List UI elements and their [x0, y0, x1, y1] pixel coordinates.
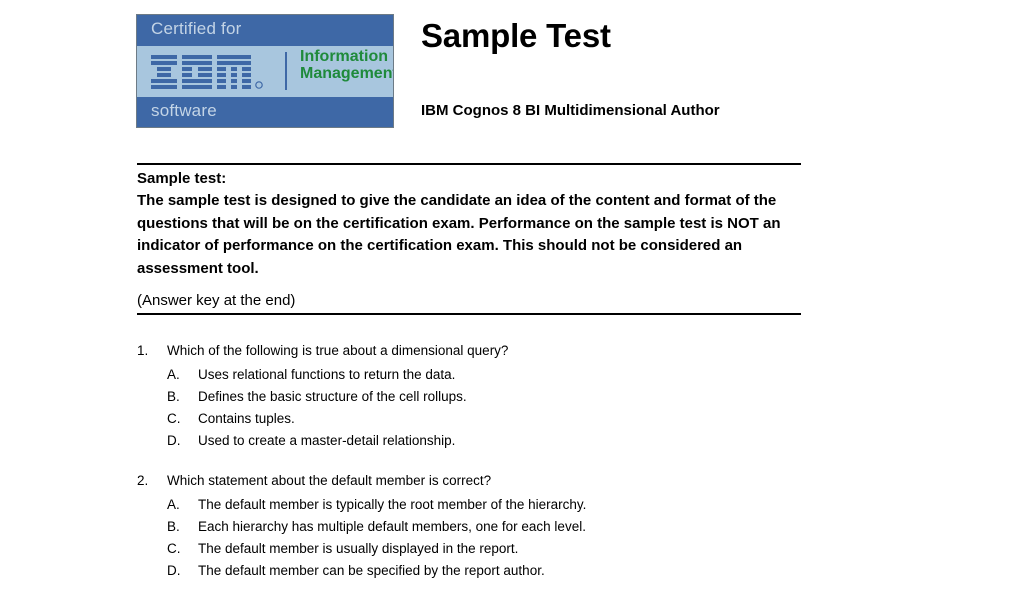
intro-body: The sample test is designed to give the …: [137, 190, 802, 280]
ibm-certification-logo: Certified for: [136, 14, 394, 128]
answer-option-letter: A.: [167, 494, 198, 516]
question-header: 1.Which of the following is true about a…: [137, 340, 897, 362]
answer-option[interactable]: A.Uses relational functions to return th…: [137, 364, 897, 386]
logo-certified-for-text: Certified for: [151, 19, 241, 39]
answer-options: A.The default member is typically the ro…: [137, 494, 897, 582]
answer-option[interactable]: D.Used to create a master-detail relatio…: [137, 430, 897, 452]
answer-option-letter: C.: [167, 408, 198, 430]
answer-options: A.Uses relational functions to return th…: [137, 364, 897, 452]
intro-section: Sample test: The sample test is designed…: [137, 168, 805, 280]
answer-option-text: The default member is usually displayed …: [198, 538, 897, 560]
answer-option-text: Used to create a master-detail relations…: [198, 430, 897, 452]
questions-list: 1.Which of the following is true about a…: [137, 340, 897, 600]
logo-product-line-2: Management: [300, 65, 394, 82]
answer-option[interactable]: A.The default member is typically the ro…: [137, 494, 897, 516]
answer-option[interactable]: B.Each hierarchy has multiple default me…: [137, 516, 897, 538]
ibm-wordmark-icon: [151, 55, 273, 89]
question-text: Which of the following is true about a d…: [167, 340, 897, 362]
question-header: 2.Which statement about the default memb…: [137, 470, 897, 492]
answer-option[interactable]: B.Defines the basic structure of the cel…: [137, 386, 897, 408]
answer-option-letter: C.: [167, 538, 198, 560]
logo-software-text: software: [151, 101, 217, 121]
question-item: 1.Which of the following is true about a…: [137, 340, 897, 452]
answer-option-letter: A.: [167, 364, 198, 386]
logo-product-line: Information Management: [300, 48, 394, 82]
answer-option-text: Uses relational functions to return the …: [198, 364, 897, 386]
answer-option[interactable]: C.The default member is usually displaye…: [137, 538, 897, 560]
page-subtitle: IBM Cognos 8 BI Multidimensional Author: [421, 102, 720, 119]
answer-option-text: Each hierarchy has multiple default memb…: [198, 516, 897, 538]
answer-option-text: The default member can be specified by t…: [198, 560, 897, 582]
answer-option-text: The default member is typically the root…: [198, 494, 897, 516]
document-header: Certified for: [0, 0, 1023, 140]
answer-option-letter: D.: [167, 560, 198, 582]
question-number: 1.: [137, 340, 167, 362]
intro-label: Sample test:: [137, 168, 805, 190]
question-text: Which statement about the default member…: [167, 470, 897, 492]
answer-option-letter: B.: [167, 386, 198, 408]
answer-option[interactable]: C.Contains tuples.: [137, 408, 897, 430]
logo-product-line-1: Information: [300, 48, 394, 65]
answer-key-note: (Answer key at the end): [137, 292, 295, 309]
answer-option-text: Contains tuples.: [198, 408, 897, 430]
page-title: Sample Test: [421, 17, 611, 55]
question-number: 2.: [137, 470, 167, 492]
answer-option-text: Defines the basic structure of the cell …: [198, 386, 897, 408]
question-item: 2.Which statement about the default memb…: [137, 470, 897, 582]
answer-option-letter: B.: [167, 516, 198, 538]
divider-top: [137, 163, 801, 165]
logo-divider: [285, 52, 287, 90]
divider-bottom: [137, 313, 801, 315]
answer-option-letter: D.: [167, 430, 198, 452]
answer-option[interactable]: D.The default member can be specified by…: [137, 560, 897, 582]
